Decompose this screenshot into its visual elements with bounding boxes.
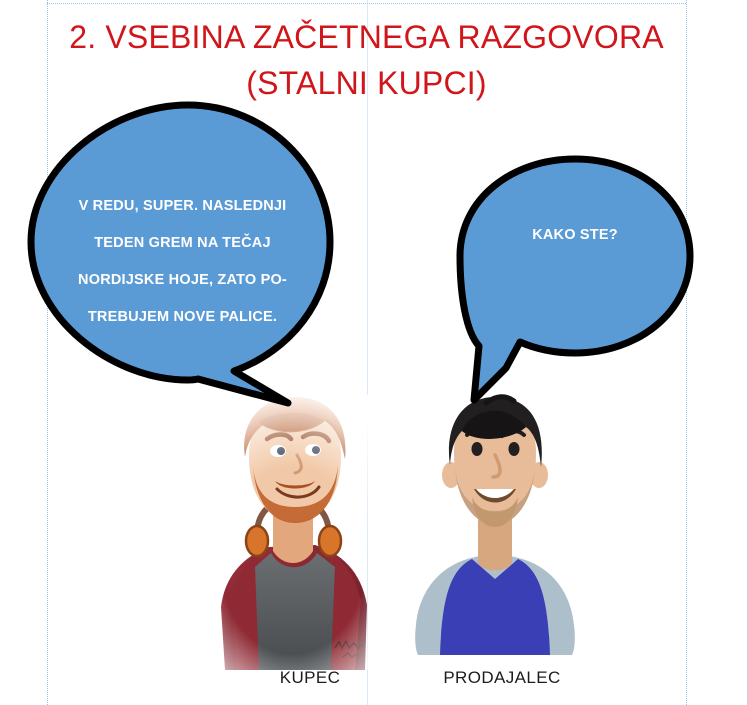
salesperson-speech-bubble (450, 150, 700, 410)
page-title: 2. VSEBINA ZAČETNEGA RAZGOVORA (STALNI K… (47, 14, 686, 106)
customer-speech-bubble (20, 95, 340, 415)
salesperson-avatar (398, 393, 593, 663)
caption-prodajalec: PRODAJALEC (412, 668, 592, 688)
salesperson-eye-right (509, 442, 520, 456)
customer-avatar (185, 395, 400, 670)
salesperson-bubble-shape (460, 159, 690, 400)
customer-bubble-shape (31, 105, 330, 403)
customer-vignette (185, 395, 400, 670)
salesperson-eye-left (472, 442, 483, 456)
page-title-line-1: 2. VSEBINA ZAČETNEGA RAZGOVORA (47, 14, 686, 60)
caption-kupec: KUPEC (230, 668, 390, 688)
slide-canvas: 2. VSEBINA ZAČETNEGA RAZGOVORA (STALNI K… (0, 0, 748, 705)
